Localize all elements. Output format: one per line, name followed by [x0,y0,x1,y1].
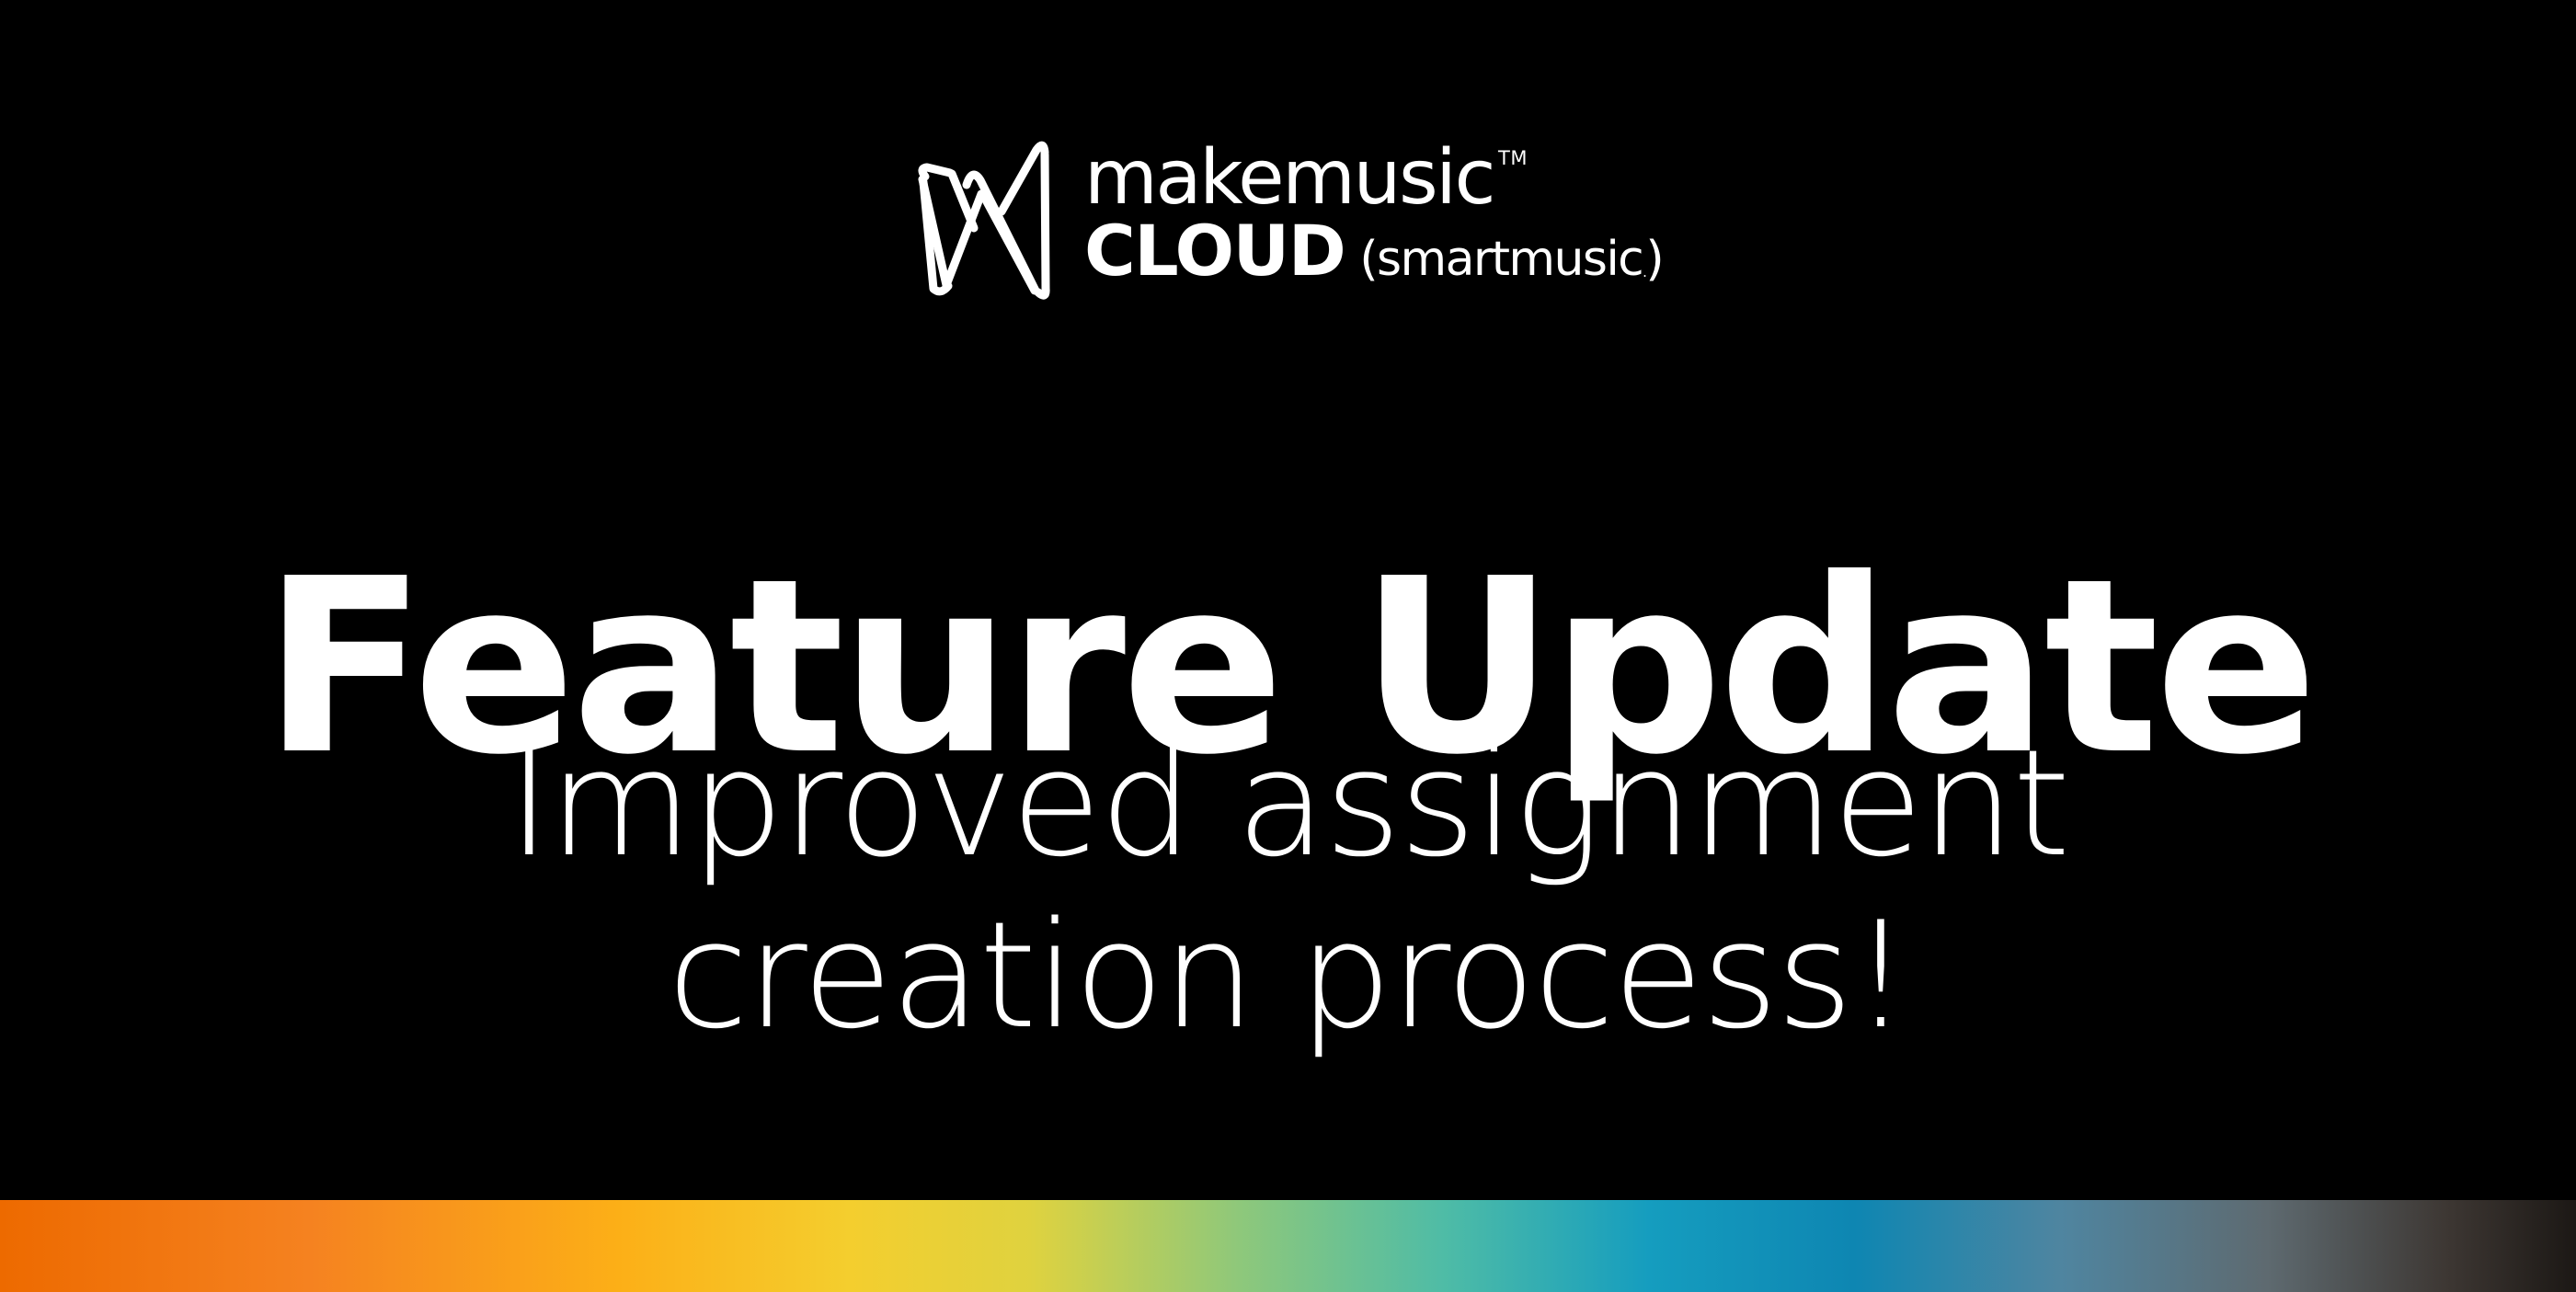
paren-open: ( [1359,232,1377,287]
brand-wordmark: makemusic TM CLOUD (smartmusic.) [1084,136,1663,285]
page-subtitle: Improved assignment creation process! [0,717,2576,1061]
brand-wordmark-row-primary: makemusic TM [1084,143,1663,212]
feature-update-slide: makemusic TM CLOUD (smartmusic.) Feature… [0,0,2576,1292]
brand-gradient-bar [0,1200,2576,1292]
brand-name-makemusic: makemusic [1084,143,1494,212]
product-label: smartmusic [1377,232,1643,287]
page-subtitle-line-2: creation process! [0,889,2576,1061]
product-name-smartmusic: (smartmusic.) [1359,237,1663,282]
brand-wordmark-row-secondary: CLOUD (smartmusic.) [1084,218,1663,284]
paren-close: ) [1645,232,1663,287]
brand-name-cloud: CLOUD [1084,218,1345,284]
registered-mark: . [1643,264,1645,280]
trademark-symbol: TM [1498,149,1528,168]
brand-logo-lockup: makemusic TM CLOUD (smartmusic.) [0,136,2576,300]
page-subtitle-line-1: Improved assignment [0,717,2576,889]
makemusic-zigzag-mark-icon [913,136,1053,300]
